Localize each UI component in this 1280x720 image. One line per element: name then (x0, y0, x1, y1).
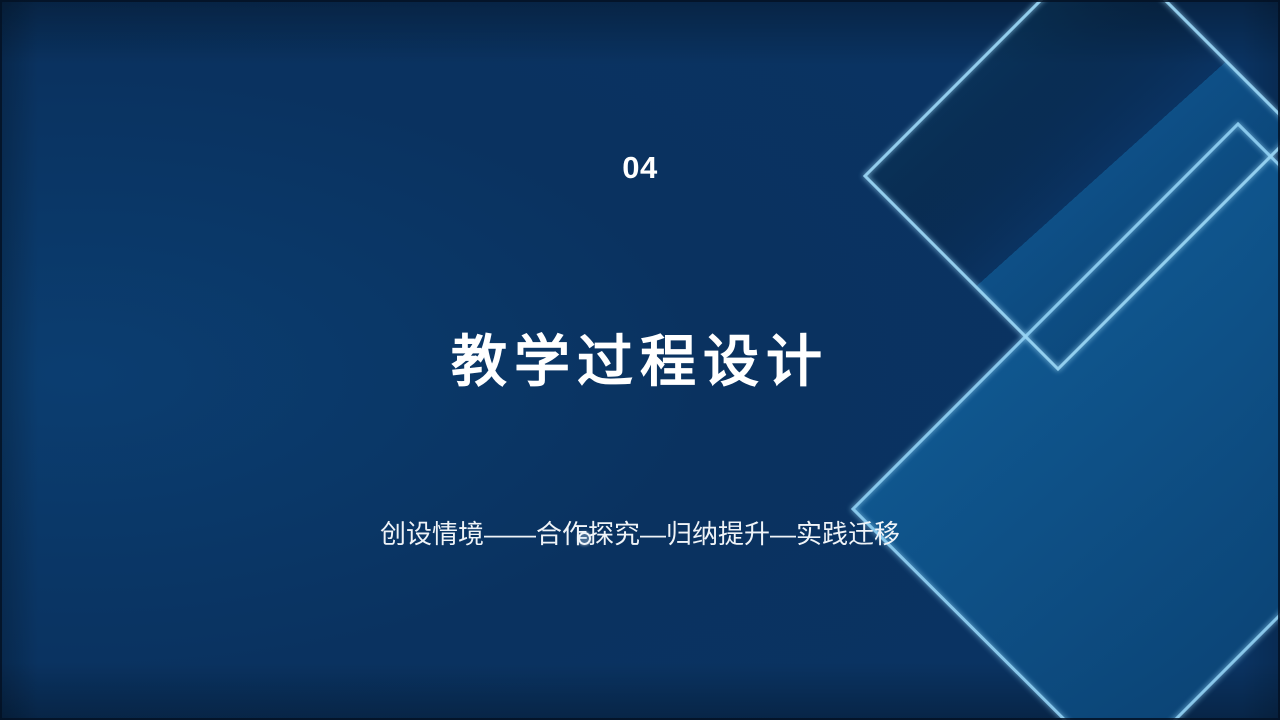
mouse-cursor-icon (578, 532, 591, 545)
slide-content: 04 教学过程设计 创设情境——合作探究—归纳提升—实践迁移 (0, 0, 1280, 720)
slide-subtitle: 创设情境——合作探究—归纳提升—实践迁移 (0, 517, 1280, 551)
presentation-slide: 04 教学过程设计 创设情境——合作探究—归纳提升—实践迁移 (0, 0, 1280, 720)
section-number: 04 (0, 148, 1280, 188)
slide-main-title: 教学过程设计 (0, 325, 1280, 399)
